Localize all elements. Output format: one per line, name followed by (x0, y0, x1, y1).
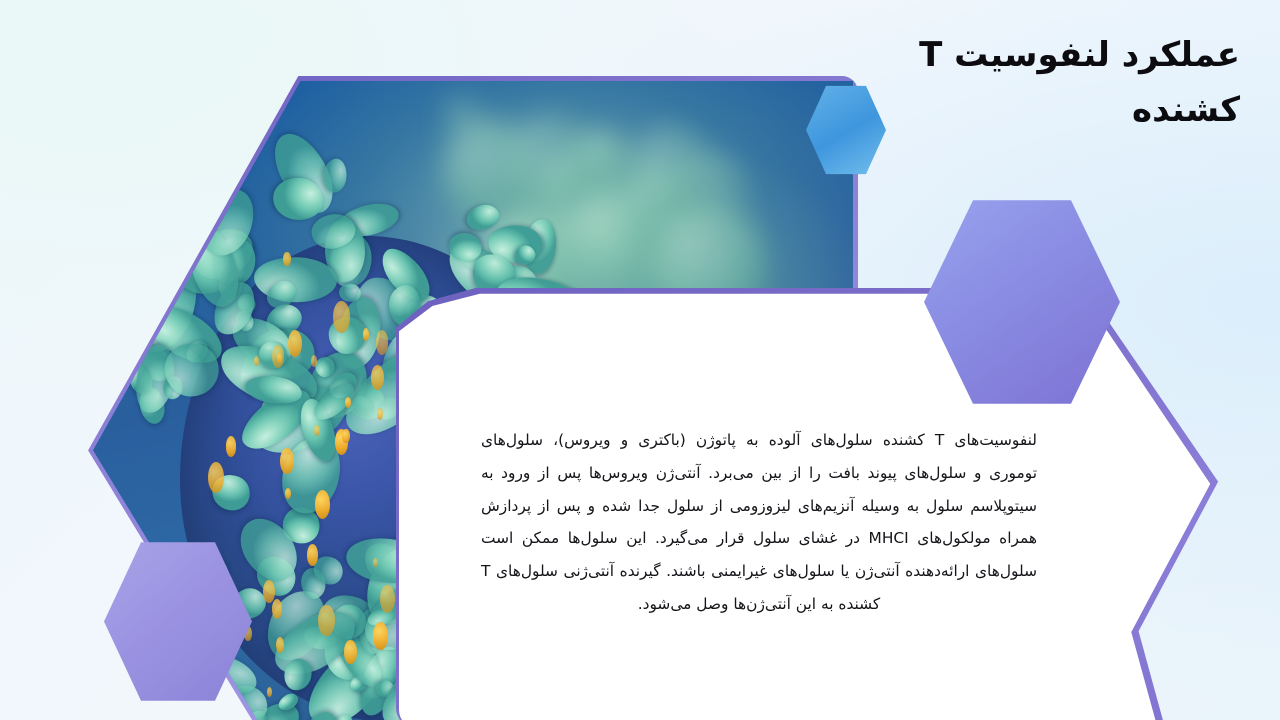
slide-body-paragraph: لنفوسیت‌های T کشنده سلول‌های آلوده به پا… (481, 424, 1037, 621)
slide-body: لنفوسیت‌های T کشنده سلول‌های آلوده به پا… (481, 424, 1037, 621)
slide-title: عملکرد لنفوسیت T کشنده (780, 28, 1240, 138)
slide-title-line-2: کشنده (780, 83, 1240, 138)
slide-title-line-1: عملکرد لنفوسیت T (780, 28, 1240, 83)
slide-canvas: عملکرد لنفوسیت T کشنده لنفوسیت‌های T کشن… (0, 0, 1280, 720)
